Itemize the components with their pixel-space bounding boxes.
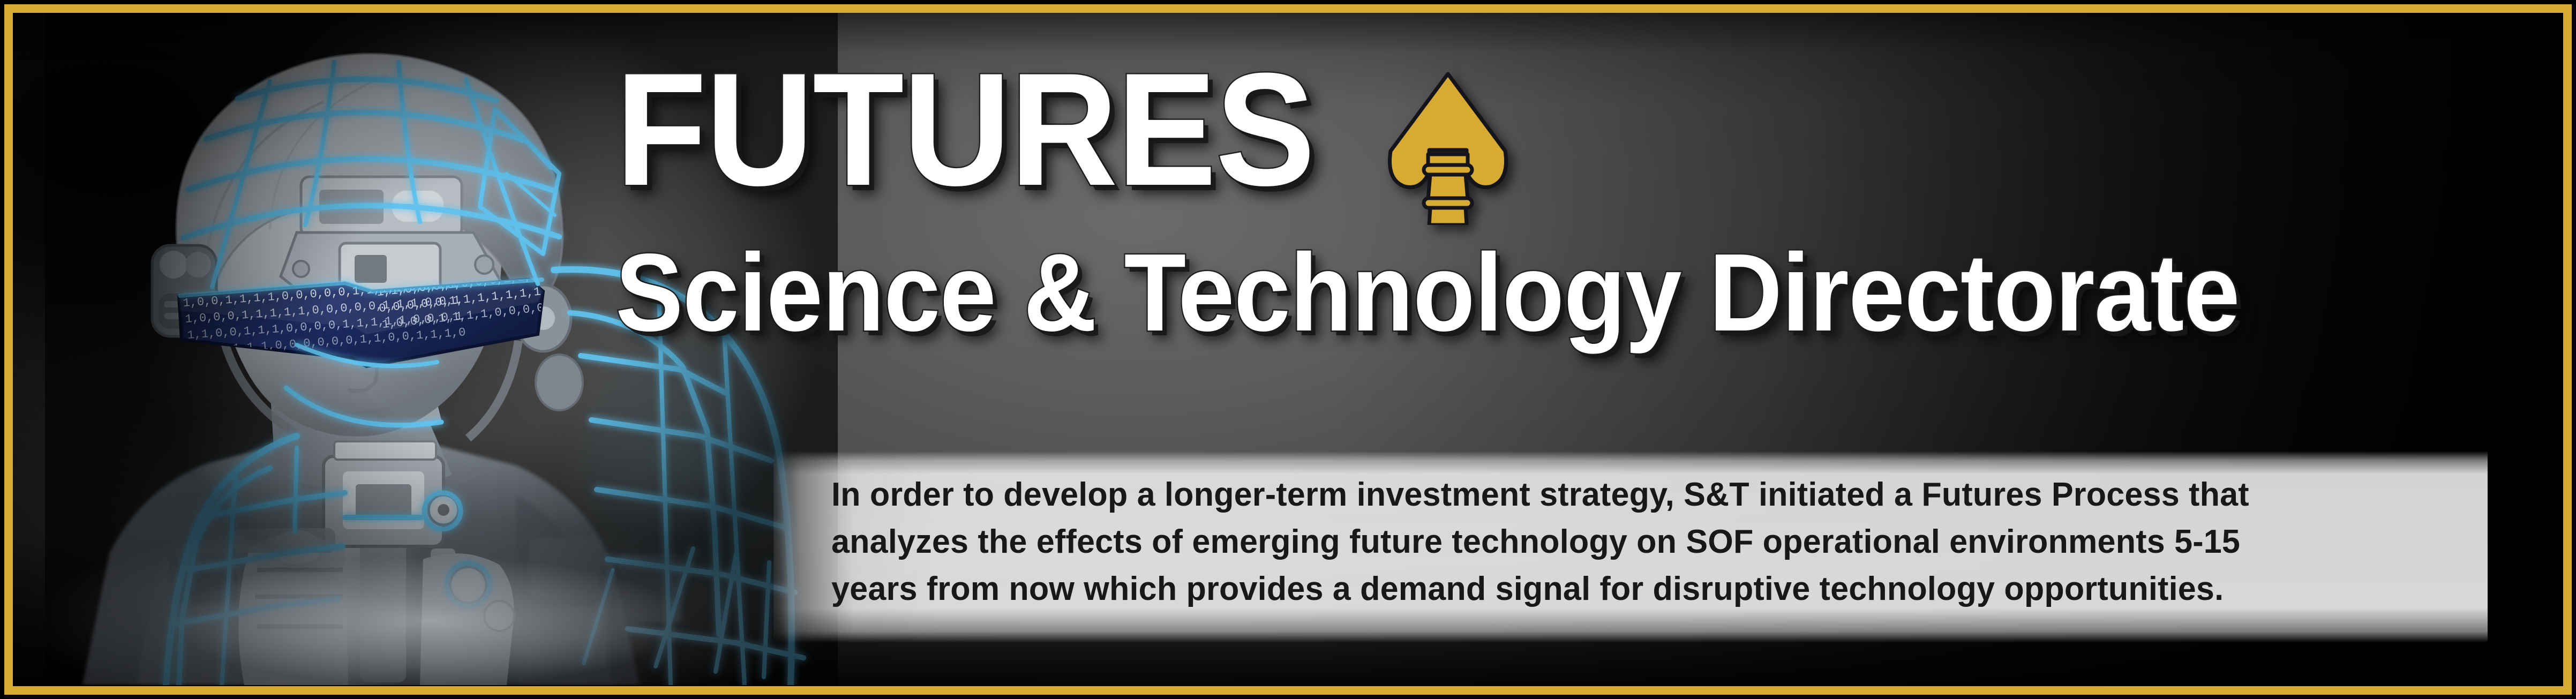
banner-title-block: FUTURES xyxy=(615,60,2522,348)
socom-spearhead-icon xyxy=(1381,70,1515,228)
page-title: FUTURES xyxy=(615,60,1314,198)
futures-banner: 1,0,0,1,1,1,1,0,0,0,0,0,1,1,1,1,0,0,1,1 … xyxy=(0,0,2576,699)
description-line-1: In order to develop a longer-term invest… xyxy=(831,471,2420,518)
page-subtitle: Science & Technology Directorate xyxy=(615,237,2370,348)
holographic-sight xyxy=(324,456,459,546)
description-line-3: years from now which provides a demand s… xyxy=(831,566,2420,613)
description-text: In order to develop a longer-term invest… xyxy=(831,471,2420,613)
title-main-line: FUTURES xyxy=(615,60,2522,228)
description-line-2: analyzes the effects of emerging future … xyxy=(831,518,2420,566)
gold-border-frame: 1,0,0,1,1,1,1,0,0,0,0,0,1,1,1,1,0,0,1,1 … xyxy=(4,4,2572,695)
banner-stage: 1,0,0,1,1,1,1,0,0,0,0,0,1,1,1,1,0,0,1,1 … xyxy=(13,13,2563,686)
